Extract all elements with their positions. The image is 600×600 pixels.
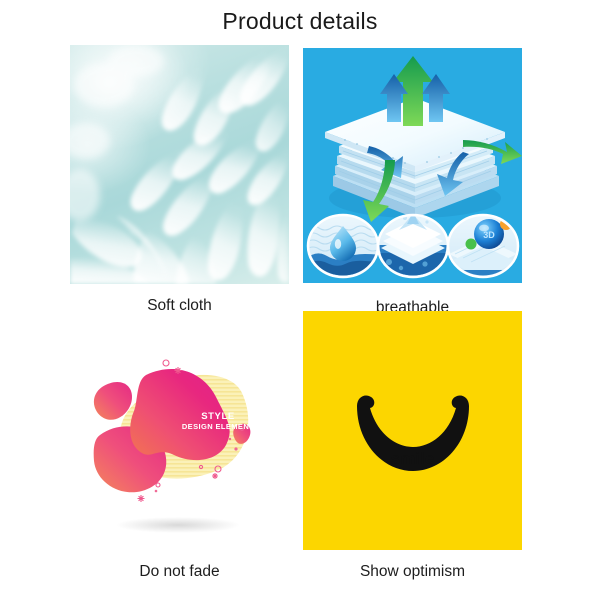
show-optimism-caption: Show optimism: [303, 563, 522, 581]
blob-shadow: [116, 517, 240, 533]
page-title: Product details: [0, 8, 600, 35]
product-detail-item-soft-cloth[interactable]: Soft cloth: [70, 45, 289, 315]
feature-circle-3d-sphere: 3D: [448, 215, 518, 280]
feature-circle-water-droplet: [305, 215, 387, 280]
do-not-fade-image[interactable]: STYLE DESIGN ELEMENT: [70, 311, 289, 550]
breathable-image[interactable]: 3D: [303, 48, 522, 283]
product-detail-item-do-not-fade[interactable]: STYLE DESIGN ELEMENT Do not fade: [70, 311, 289, 581]
show-optimism-image[interactable]: smile: [303, 311, 522, 550]
soft-cloth-image[interactable]: [70, 45, 289, 284]
smile-icon: [303, 311, 522, 550]
feather-illustration: [70, 45, 289, 284]
product-detail-item-breathable[interactable]: 3D breathable: [303, 48, 522, 317]
product-detail-grid: Soft cloth: [70, 45, 522, 590]
product-details-page: Product details: [0, 0, 600, 600]
feature-circle-layered-pyramid: [377, 208, 449, 279]
fluid-gradient-illustration: [70, 311, 289, 550]
breathable-fabric-diagram: 3D: [303, 48, 522, 283]
do-not-fade-caption: Do not fade: [70, 563, 289, 581]
product-detail-item-show-optimism[interactable]: smile Show optimism: [303, 311, 522, 581]
smile-word: smile: [303, 449, 522, 469]
three-d-badge-text: 3D: [483, 230, 495, 240]
